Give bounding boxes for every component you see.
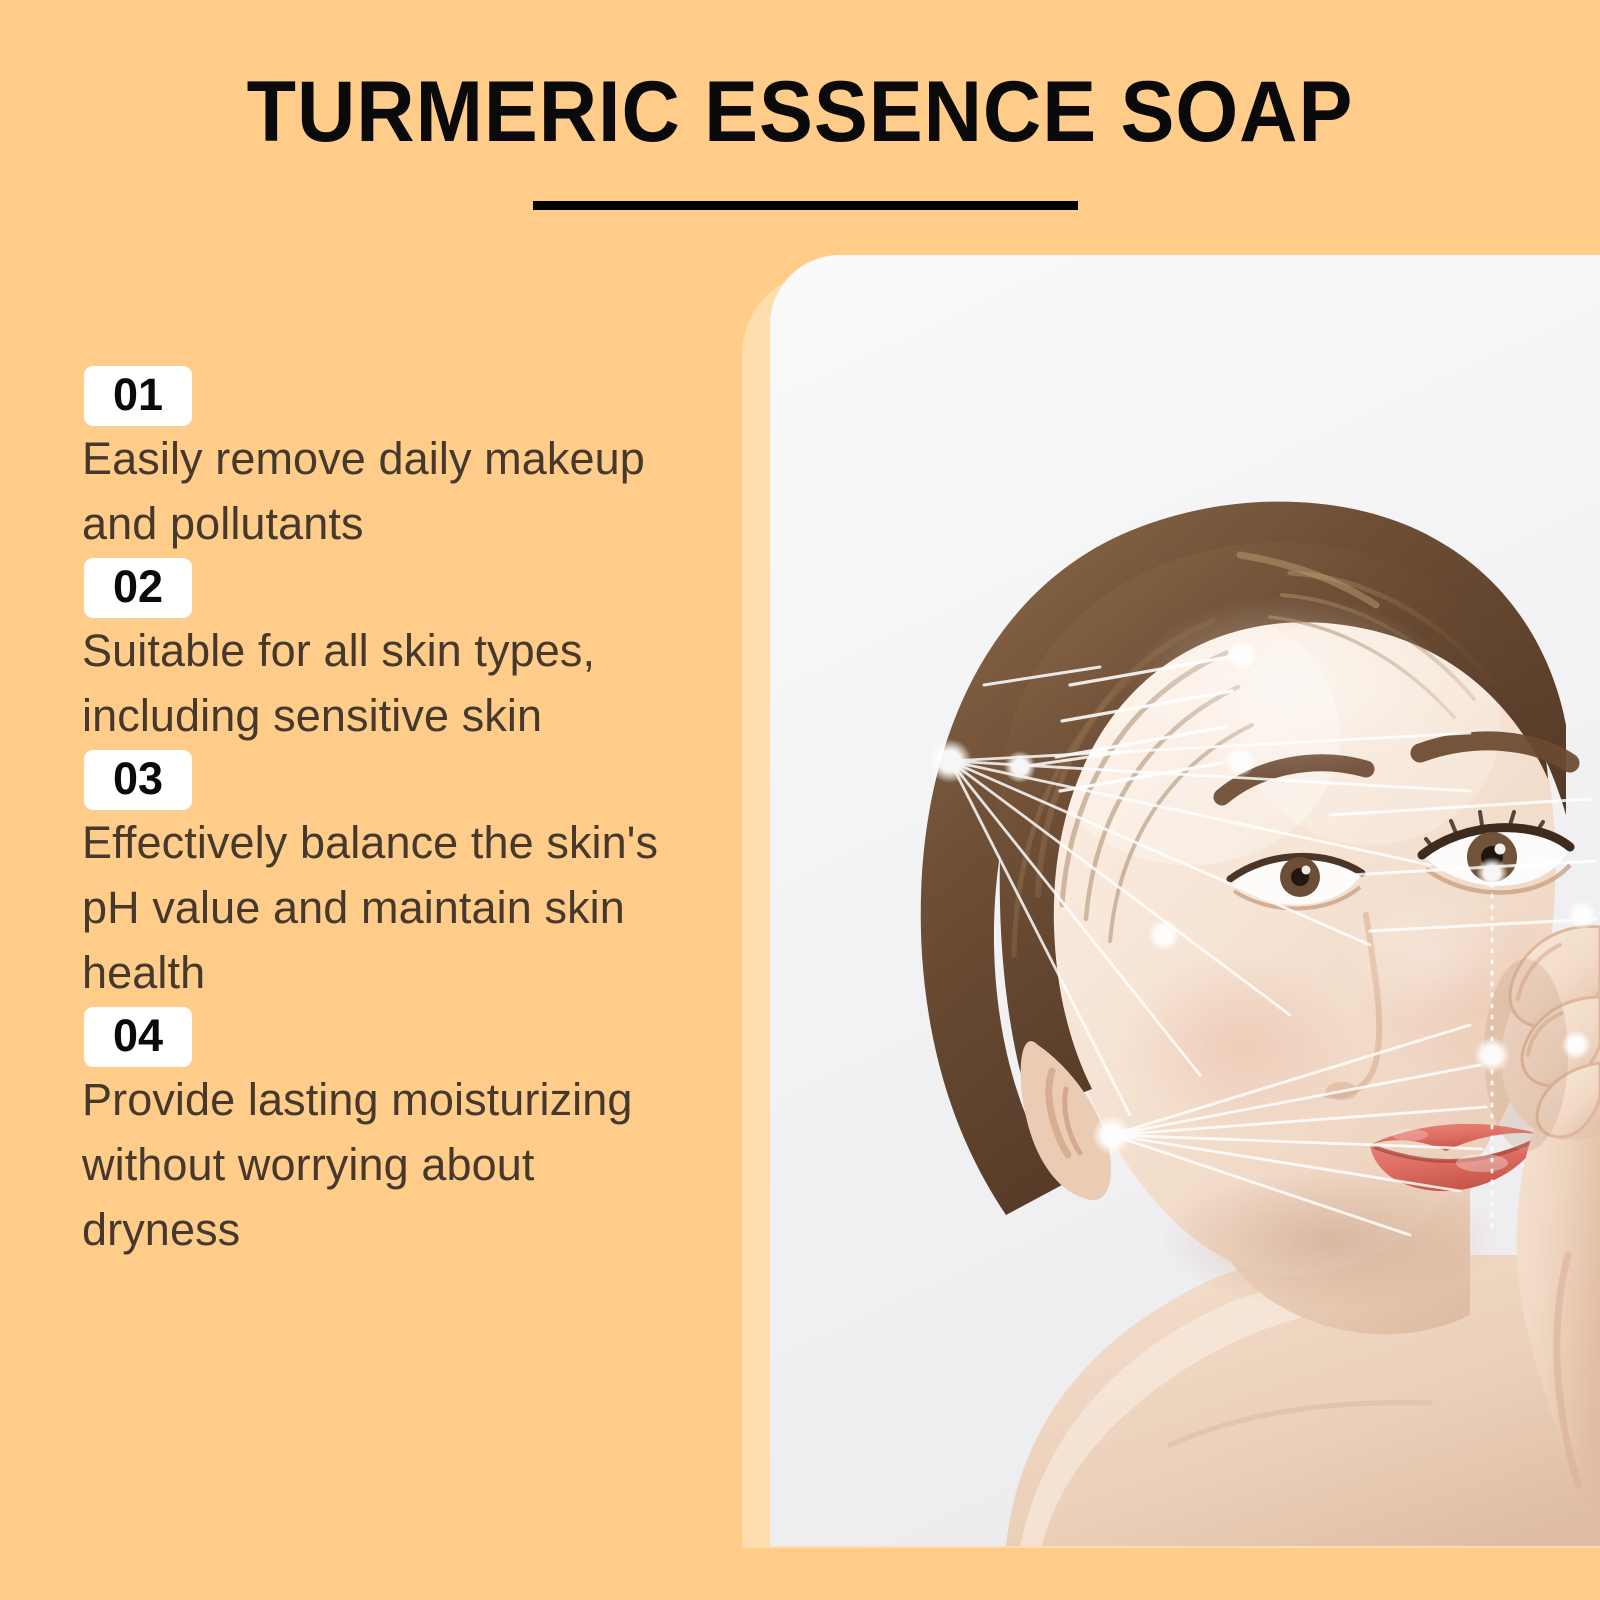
feature-description: Provide lasting moisturizing without wor… xyxy=(82,1067,682,1262)
list-item: 04 Provide lasting moisturizing without … xyxy=(82,1007,682,1262)
feature-description: Suitable for all skin types, including s… xyxy=(82,618,682,748)
page-title: TURMERIC ESSENCE SOAP xyxy=(48,64,1552,160)
list-item: 01 Easily remove daily makeup and pollut… xyxy=(82,366,682,556)
product-poster: TURMERIC ESSENCE SOAP 01 Easily remove d… xyxy=(0,0,1600,1600)
list-item: 03 Effectively balance the skin's pH val… xyxy=(82,750,682,1005)
feature-list: 01 Easily remove daily makeup and pollut… xyxy=(82,366,682,1262)
product-photo-card xyxy=(770,255,1600,1546)
feature-number-badge: 01 xyxy=(84,366,192,426)
model-photo-illustration xyxy=(770,255,1600,1546)
eye-left xyxy=(1230,856,1362,908)
feature-number-badge: 02 xyxy=(84,558,192,618)
list-item: 02 Suitable for all skin types, includin… xyxy=(82,558,682,748)
feature-description: Easily remove daily makeup and pollutant… xyxy=(82,426,682,556)
feature-description: Effectively balance the skin's pH value … xyxy=(82,810,682,1005)
poster-header: TURMERIC ESSENCE SOAP xyxy=(0,0,1600,240)
model-photo xyxy=(770,255,1600,1546)
feature-number-badge: 03 xyxy=(84,750,192,810)
feature-number-badge: 04 xyxy=(84,1007,192,1067)
title-underline xyxy=(533,201,1078,210)
